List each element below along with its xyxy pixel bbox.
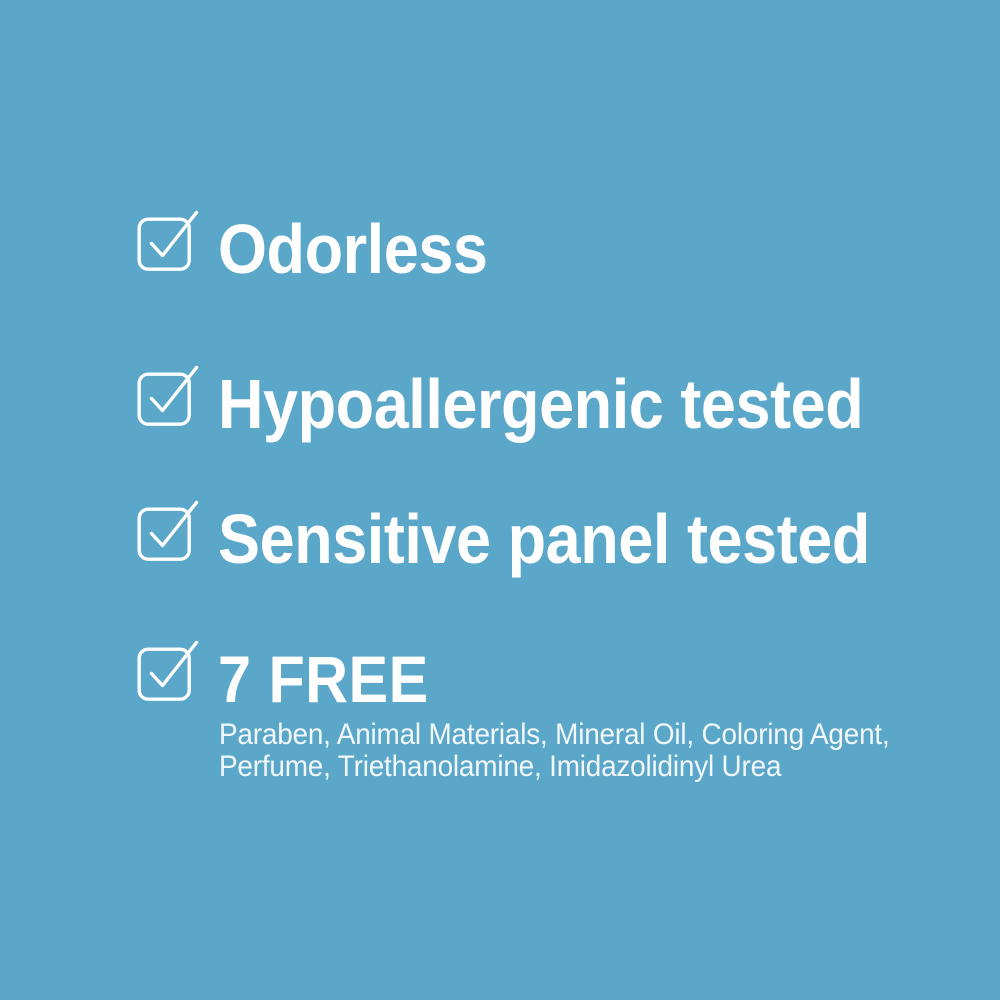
checkbox-checked-icon [136,204,202,270]
feature-label: Odorless [218,204,488,284]
feature-label: 7 FREE [218,634,429,712]
free-ingredients-note-line-2: Perfume, Triethanolamine, Imidazolidinyl… [219,751,851,783]
checkbox-checked-icon [136,494,202,560]
feature-label: Sensitive panel tested [218,494,870,574]
checkbox-checked-icon [136,359,202,425]
list-item: Sensitive panel tested [136,494,942,574]
checkbox-checked-icon [136,634,202,700]
free-ingredients-note-line-1: Paraben, Animal Materials, Mineral Oil, … [219,719,851,751]
feature-list: Odorless Hypoallergenic tested Sensitive… [0,0,1000,1000]
feature-label: Hypoallergenic tested [218,359,863,439]
list-item: Odorless [136,204,517,284]
free-ingredients-note: Paraben, Animal Materials, Mineral Oil, … [219,719,851,783]
list-item: Hypoallergenic tested [136,359,935,439]
feature-callout-panel: Odorless Hypoallergenic tested Sensitive… [0,0,1000,1000]
list-item: 7 FREE [136,634,452,712]
